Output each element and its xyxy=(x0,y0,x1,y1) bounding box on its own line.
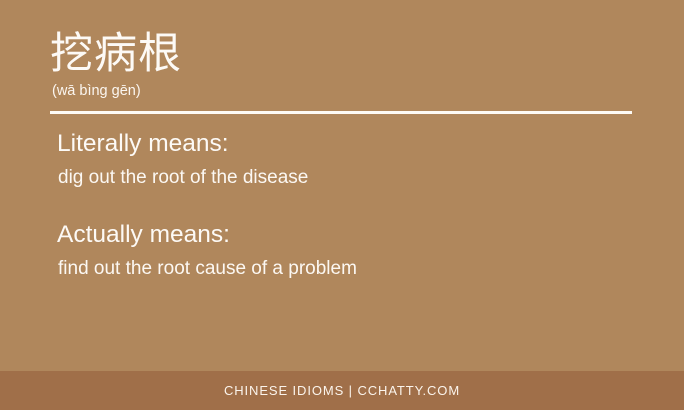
idiom-header: 挖病根 (wā bìng gēn) xyxy=(50,28,634,101)
footer-branding-text: CHINESE IDIOMS | CCHATTY.COM xyxy=(224,383,460,399)
literal-meaning-label: Literally means: xyxy=(57,128,640,159)
idiom-card: 挖病根 (wā bìng gēn) Literally means: dig o… xyxy=(0,0,684,410)
actual-meaning-block: Actually means: find out the root cause … xyxy=(50,219,640,282)
idiom-hanzi-title: 挖病根 xyxy=(50,28,634,80)
literal-meaning-block: Literally means: dig out the root of the… xyxy=(50,128,640,191)
actual-meaning-label: Actually means: xyxy=(57,219,640,250)
footer-bar: CHINESE IDIOMS | CCHATTY.COM xyxy=(0,371,684,410)
idiom-pinyin: (wā bìng gēn) xyxy=(52,82,634,101)
actual-meaning-text: find out the root cause of a problem xyxy=(58,256,640,282)
literal-meaning-text: dig out the root of the disease xyxy=(58,165,640,191)
header-divider xyxy=(50,111,632,114)
